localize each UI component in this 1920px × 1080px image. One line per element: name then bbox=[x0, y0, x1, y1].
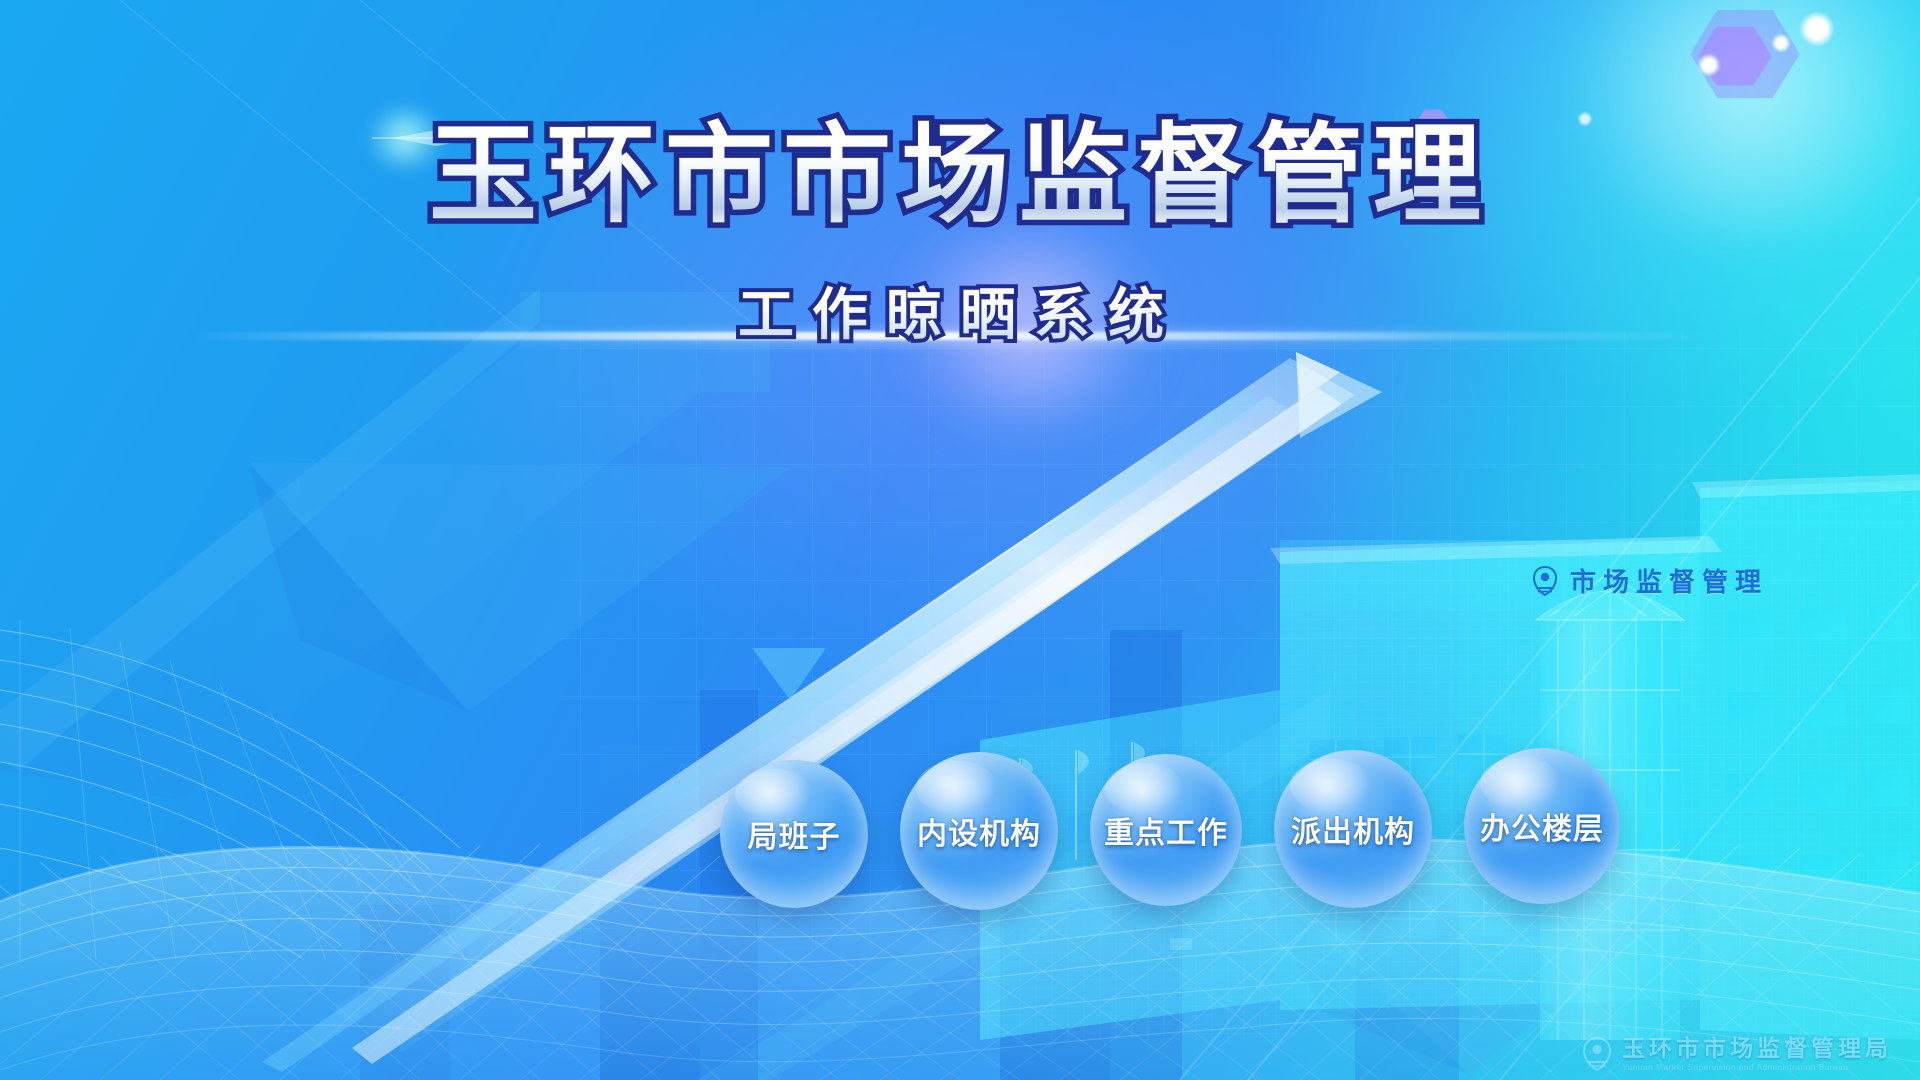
flare-dot-2 bbox=[1772, 34, 1790, 52]
nav-dispatched-agencies[interactable]: 派出机构 bbox=[1274, 750, 1432, 908]
nav-bureau-leadership[interactable]: 局班子 bbox=[720, 760, 868, 908]
watermark: 玉环市市场监督管理局 Yuhuan Market Supervision and… bbox=[1582, 1036, 1892, 1072]
page-title: 玉环市市场监督管理 bbox=[0, 118, 1920, 231]
nav-label: 派出机构 bbox=[1291, 807, 1415, 851]
screen-root: 市场监督管理 bbox=[0, 0, 1920, 1080]
watermark-cn: 玉环市市场监督管理局 bbox=[1622, 1036, 1892, 1060]
nav-label: 内设机构 bbox=[917, 809, 1041, 853]
flare-dot-3 bbox=[1698, 54, 1720, 76]
emblem-icon bbox=[1532, 566, 1558, 596]
nav-internal-departments[interactable]: 内设机构 bbox=[900, 752, 1058, 910]
nav-circle-row: 局班子 内设机构 重点工作 派出机构 办公楼层 bbox=[0, 748, 1920, 910]
watermark-emblem-icon bbox=[1582, 1037, 1612, 1071]
building-sign: 市场监督管理 bbox=[1532, 562, 1768, 599]
building-sign-text: 市场监督管理 bbox=[1570, 562, 1768, 599]
nav-office-floors[interactable]: 办公楼层 bbox=[1464, 748, 1620, 904]
nav-key-work[interactable]: 重点工作 bbox=[1090, 754, 1242, 906]
flare-dot-1 bbox=[1800, 12, 1834, 46]
nav-label: 局班子 bbox=[748, 812, 841, 856]
nav-label: 重点工作 bbox=[1104, 808, 1228, 852]
page-subtitle: 工作晾晒系统 bbox=[0, 270, 1920, 351]
watermark-text: 玉环市市场监督管理局 Yuhuan Market Supervision and… bbox=[1622, 1036, 1892, 1072]
nav-label: 办公楼层 bbox=[1480, 804, 1604, 848]
watermark-en: Yuhuan Market Supervision and Administra… bbox=[1622, 1062, 1892, 1072]
